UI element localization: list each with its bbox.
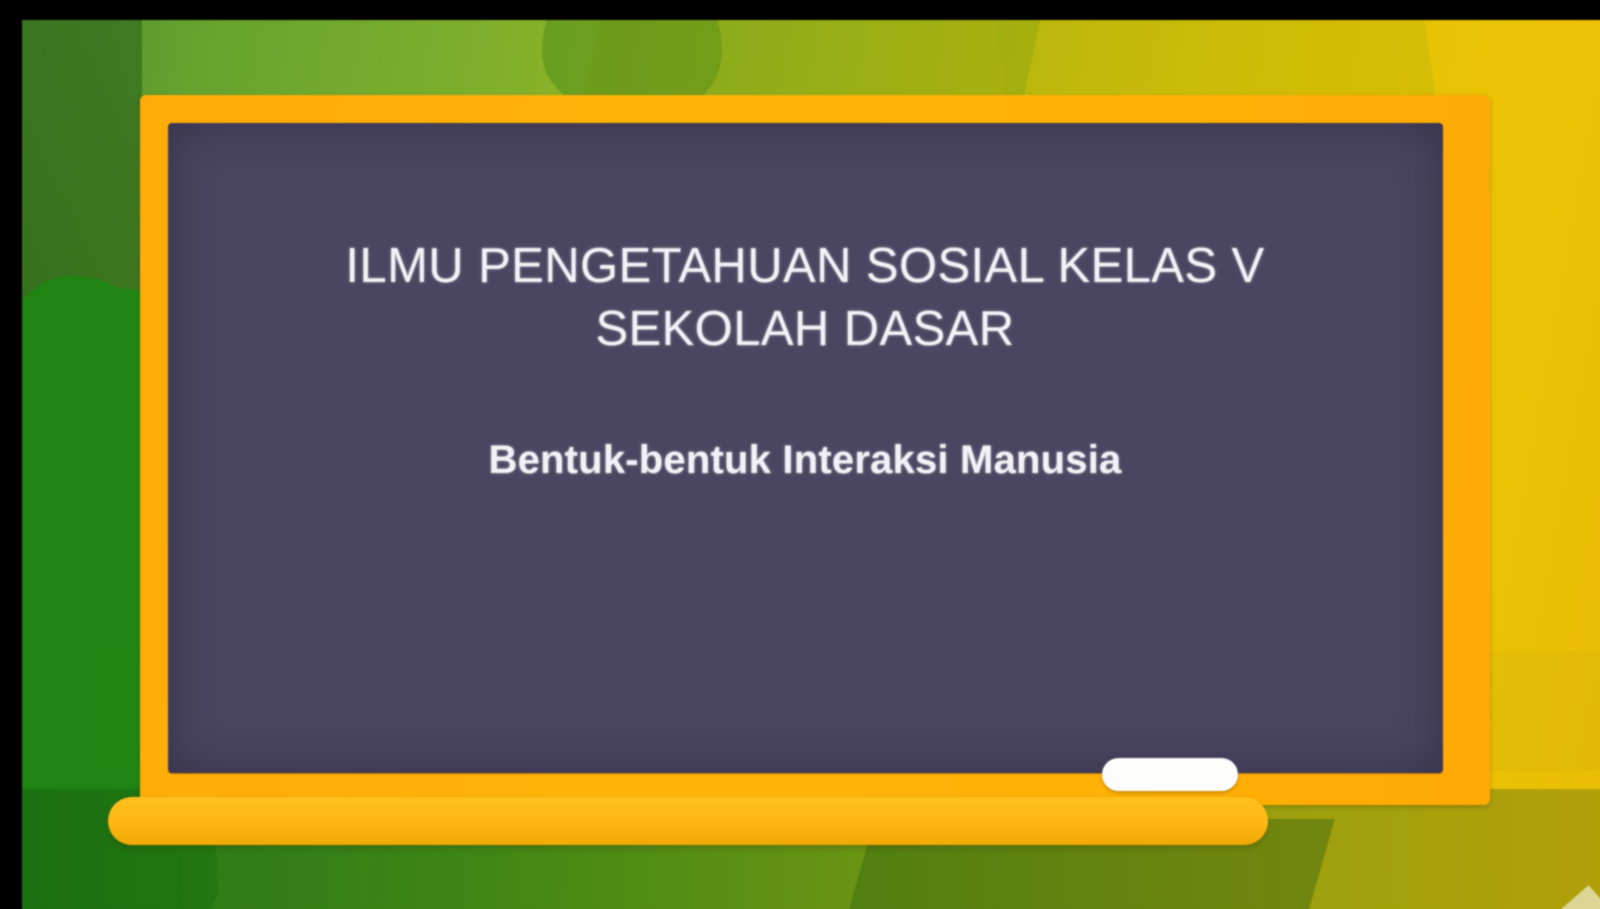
slide-subtitle: Bentuk-bentuk Interaksi Manusia (180, 434, 1430, 486)
board-text-block: ILMU PENGETAHUAN SOSIAL KELAS V SEKOLAH … (180, 235, 1430, 486)
slide-stage: ILMU PENGETAHUAN SOSIAL KELAS V SEKOLAH … (0, 0, 1600, 909)
chalkboard-ledge (108, 797, 1268, 845)
chalk-stick (1102, 758, 1238, 791)
slide-title: ILMU PENGETAHUAN SOSIAL KELAS V SEKOLAH … (180, 235, 1430, 360)
